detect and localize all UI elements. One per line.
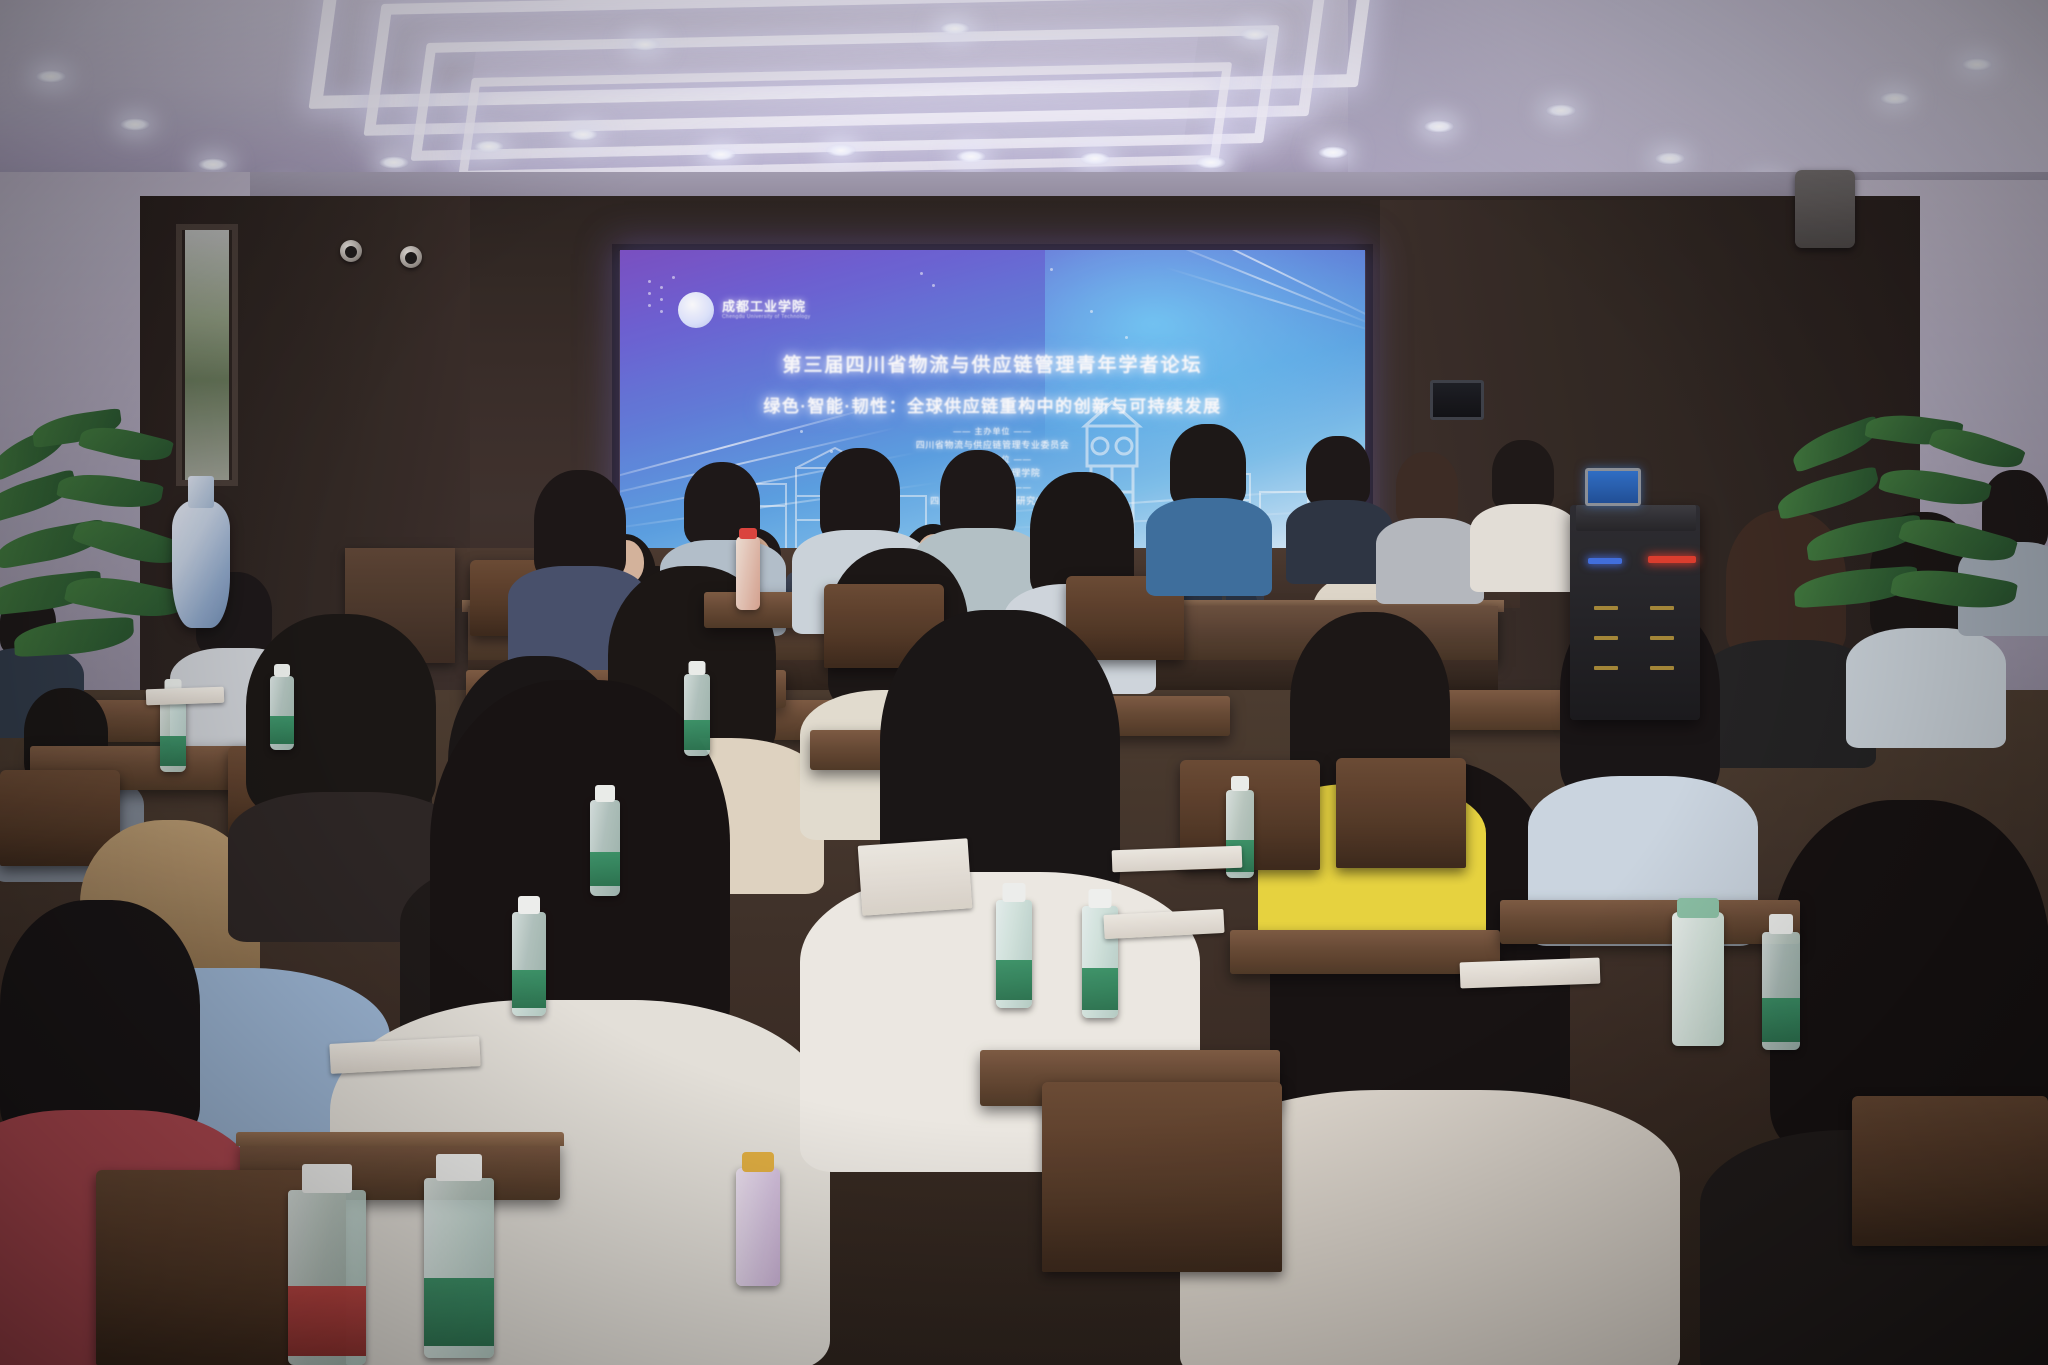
downlight-icon (1424, 120, 1454, 133)
porcelain-vase-neck (188, 476, 214, 508)
audience-desk (1500, 900, 1800, 944)
downlight-icon (1318, 146, 1348, 159)
water-bottle (684, 674, 710, 756)
university-name-en: Chengdu University of Technology (722, 314, 811, 320)
downlight-icon (630, 38, 660, 51)
downlight-icon (1546, 104, 1576, 117)
red-led-indicator (1648, 556, 1696, 563)
audience-desk-edge (236, 1132, 564, 1146)
water-bottle (270, 676, 294, 750)
handout-paper (1112, 846, 1243, 873)
cove-light-frame-4 (458, 62, 1232, 180)
water-bottle-foreground (288, 1190, 366, 1365)
thermos-flask (1672, 912, 1724, 1046)
amber-led-indicator (1650, 606, 1674, 610)
ceiling-speaker-icon (1795, 170, 1855, 248)
stage-monitor (1430, 380, 1484, 420)
downlight-icon (1196, 156, 1226, 169)
downlight-icon (568, 128, 598, 141)
water-bottle-foreground (424, 1178, 494, 1358)
downlight-icon (706, 148, 736, 161)
downlight-icon (1962, 58, 1992, 71)
audio-mixer (1576, 505, 1696, 531)
org-dash: —— 主办单位 —— (620, 426, 1365, 437)
ceiling-camera-icon (340, 240, 362, 262)
thermos-cap (1677, 898, 1719, 918)
amber-led-indicator (1594, 636, 1618, 640)
audience-chair (1042, 1082, 1282, 1272)
water-bottle (1762, 932, 1800, 1050)
downlight-icon (36, 70, 66, 83)
ceiling-camera-icon (400, 246, 422, 268)
downlight-icon (198, 158, 228, 171)
handout-paper (858, 838, 973, 916)
thermos-flask (736, 1168, 780, 1286)
audience-chair (1852, 1096, 2048, 1246)
conference-hall-photo: 成都工业学院 Chengdu University of Technology … (0, 0, 2048, 1365)
handout-paper (146, 687, 225, 706)
amber-led-indicator (1594, 666, 1618, 670)
blue-led-indicator (1588, 558, 1622, 564)
thermos-flask (736, 536, 760, 610)
university-logo-icon (678, 292, 714, 328)
av-equipment-rack (1570, 505, 1700, 720)
university-name: 成都工业学院 (722, 296, 806, 315)
water-bottle (590, 800, 620, 896)
amber-led-indicator (1650, 636, 1674, 640)
forum-subtitle: 绿色·智能·韧性：全球供应链重构中的创新与可持续发展 (620, 392, 1365, 417)
downlight-icon (379, 156, 409, 169)
audience-chair (1336, 758, 1466, 868)
control-lcd-screen (1585, 468, 1641, 506)
thermos-cap (742, 1152, 774, 1172)
downlight-icon (826, 144, 856, 157)
downlight-icon (1240, 28, 1270, 41)
downlight-icon (956, 150, 986, 163)
downlight-icon (474, 140, 504, 153)
downlight-icon (120, 118, 150, 131)
potted-plant-right (1770, 400, 2048, 650)
handout-paper (1460, 958, 1601, 989)
water-bottle (996, 900, 1032, 1008)
amber-led-indicator (1650, 666, 1674, 670)
downlight-icon (1655, 152, 1685, 165)
amber-led-indicator (1594, 606, 1618, 610)
porcelain-vase (172, 500, 230, 628)
downlight-icon (1880, 92, 1910, 105)
downlight-icon (1080, 152, 1110, 165)
downlight-icon (940, 22, 970, 35)
thermos-cap (739, 528, 757, 539)
forum-title: 第三届四川省物流与供应链管理青年学者论坛 (620, 350, 1365, 377)
water-bottle (512, 912, 546, 1016)
